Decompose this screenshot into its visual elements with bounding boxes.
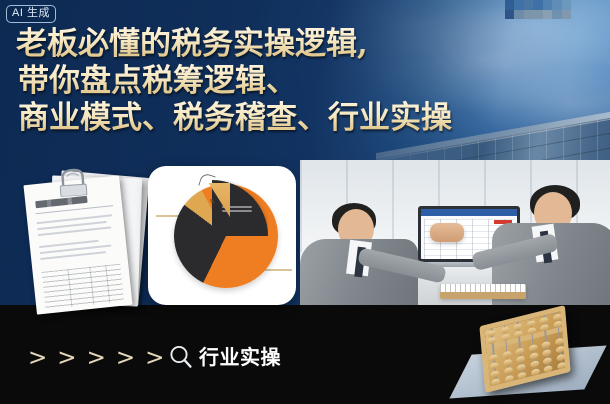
industry-practice-tag: 行业实操 (168, 344, 281, 370)
chevron-right-icon: > (145, 347, 164, 370)
censored-watermark-mosaic (505, 0, 571, 19)
chevron-arrows: > > > > > (28, 347, 164, 370)
handshake (430, 223, 464, 242)
chevron-right-icon: > (28, 347, 47, 370)
abacus-bead (541, 341, 550, 349)
abacus-bead (543, 357, 552, 365)
document-table-col (105, 265, 110, 303)
chevron-right-icon: > (57, 347, 76, 370)
search-icon (168, 344, 194, 370)
mosaic-tile (552, 0, 561, 10)
mosaic-tile (505, 0, 514, 10)
mosaic-tile (524, 0, 533, 10)
abacus-bead (516, 355, 525, 363)
abacus-bead (504, 375, 513, 383)
title-line-1: 老板必懂的税务实操逻辑, (16, 26, 556, 63)
poster-canvas: AI 生成 老板必懂的税务实操逻辑, 带你盘点税筹逻辑、 商业模式、税务稽查、行… (0, 0, 610, 404)
mosaic-tile (514, 10, 523, 20)
mosaic-tile (533, 0, 542, 10)
abacus-bead (503, 367, 512, 375)
abacus-bead (528, 344, 537, 352)
handshake-photo (300, 160, 610, 305)
mosaic-tile (562, 0, 571, 10)
abacus-bead (530, 360, 539, 368)
notebook (440, 284, 526, 299)
binder-clip-icon (57, 167, 89, 197)
document-table-col (89, 267, 94, 305)
abacus-bead (515, 347, 524, 355)
abacus-bead (542, 349, 551, 357)
ai-generated-badge: AI 生成 (6, 5, 56, 23)
document-table (42, 264, 125, 310)
tax-documents (22, 168, 150, 305)
abacus-illustration (455, 312, 610, 404)
abacus-bead (491, 378, 500, 386)
abacus-bead (557, 362, 566, 370)
abacus-bead (556, 354, 565, 362)
mosaic-tile (524, 10, 533, 20)
abacus-bead (490, 370, 499, 378)
abacus-bead (530, 368, 539, 376)
abacus-bead (543, 365, 552, 373)
document-table-col (67, 269, 72, 307)
mosaic-tile (562, 10, 571, 20)
title-line-2: 带你盘点税筹逻辑、 (16, 63, 556, 100)
mosaic-tile (543, 0, 552, 10)
abacus-bead (517, 371, 526, 379)
abacus-bead (529, 352, 538, 360)
abacus-bead (489, 354, 498, 362)
industry-practice-label: 行业实操 (199, 346, 281, 368)
chevron-right-icon: > (116, 347, 135, 370)
abacus-bead (490, 362, 499, 370)
collage-row: % (0, 160, 610, 305)
abacus-bead (517, 363, 526, 371)
pie-chart-card: % (148, 166, 296, 305)
title-line-3: 商业模式、税务稽查、行业实操 (16, 100, 556, 137)
mosaic-tile (552, 10, 561, 20)
pie-slice-tan-value: % (210, 199, 214, 205)
businessman-left (300, 195, 444, 305)
mosaic-tile (514, 0, 523, 10)
abacus-bead (503, 359, 512, 367)
mosaic-tile (543, 10, 552, 20)
abacus-bead (502, 350, 511, 358)
page-title: 老板必懂的税务实操逻辑, 带你盘点税筹逻辑、 商业模式、税务稽查、行业实操 (16, 26, 556, 137)
document-heading-redacted (35, 196, 87, 208)
mosaic-tile (505, 10, 514, 20)
mosaic-tile (533, 10, 542, 20)
abacus-bead (554, 337, 563, 345)
abacus-divider-bar (486, 326, 562, 350)
document-sheet-front (23, 175, 132, 314)
chevron-right-icon: > (87, 347, 106, 370)
abacus-bead (555, 345, 564, 353)
